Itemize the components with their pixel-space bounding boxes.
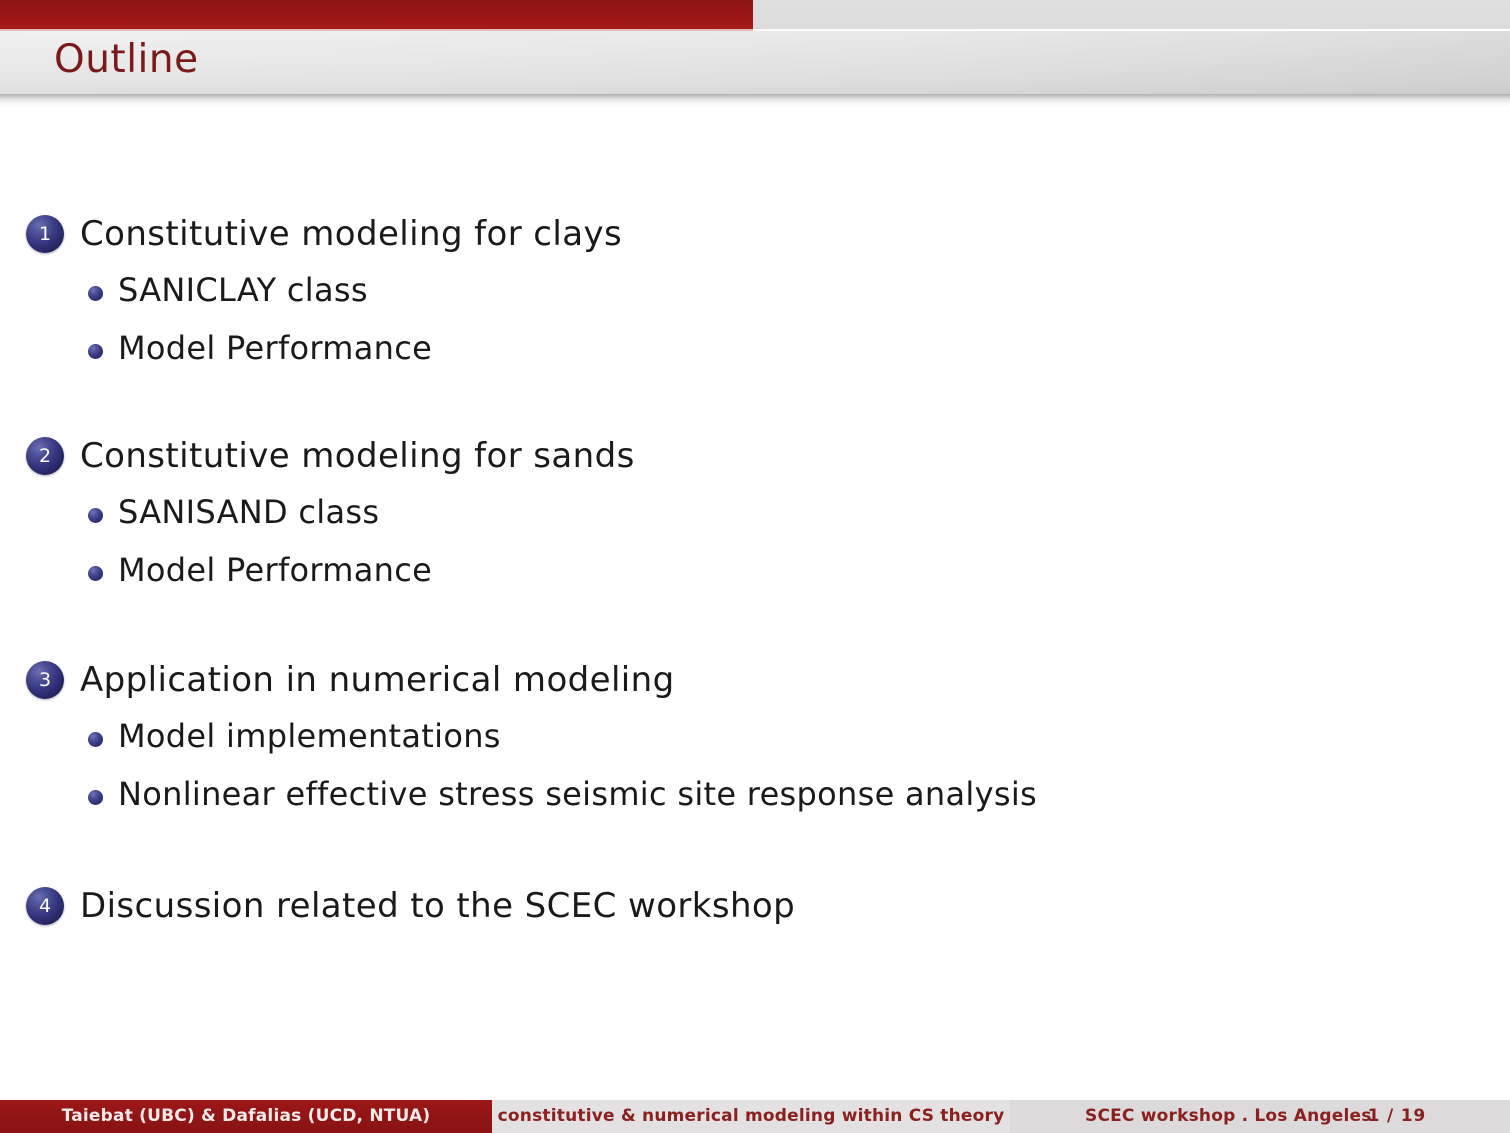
outline-subitem-label: SANICLAY class <box>118 270 368 310</box>
presentation-slide: Outline 1 Constitutive modeling for clay… <box>0 0 1510 1133</box>
outline-section-header[interactable]: 1 Constitutive modeling for clays <box>0 215 1510 273</box>
footer-subject-text: constitutive & numerical modeling within… <box>492 1100 1010 1133</box>
outline-list: 1 Constitutive modeling for clays SANICL… <box>0 105 1510 1100</box>
bullet-dot-icon <box>88 508 103 523</box>
footer-page-number: 1 / 19 <box>1368 1100 1426 1133</box>
outline-section-title: Constitutive modeling for sands <box>80 436 635 476</box>
outline-subitem-label: SANISAND class <box>118 492 379 532</box>
bullet-dot-icon <box>88 732 103 747</box>
outline-subitem[interactable]: Model implementations <box>0 719 1510 777</box>
bullet-dot-icon <box>88 790 103 805</box>
bullet-dot-icon <box>88 344 103 359</box>
footer-author-text: Taiebat (UBC) & Dafalias (UCD, NTUA) <box>0 1100 492 1133</box>
header-gray-bar <box>753 0 1510 29</box>
outline-section-title: Application in numerical modeling <box>80 660 675 700</box>
outline-subitem[interactable]: Nonlinear effective stress seismic site … <box>0 777 1510 835</box>
section-number-badge-icon: 2 <box>26 437 64 475</box>
header-red-bar <box>0 0 753 29</box>
outline-section: 4 Discussion related to the SCEC worksho… <box>0 887 1510 945</box>
outline-section-title: Constitutive modeling for clays <box>80 214 622 254</box>
footer-venue-text: SCEC workshop . Los Angeles <box>1085 1100 1372 1133</box>
outline-subitem-label: Model implementations <box>118 716 501 756</box>
slide-header: Outline <box>0 0 1510 105</box>
bullet-dot-icon <box>88 566 103 581</box>
outline-subitem-label: Nonlinear effective stress seismic site … <box>118 774 1037 814</box>
outline-subitem[interactable]: SANISAND class <box>0 495 1510 553</box>
outline-subitem-label: Model Performance <box>118 328 432 368</box>
outline-subitem-label: Model Performance <box>118 550 432 590</box>
header-title-band <box>0 31 1510 94</box>
outline-section-header[interactable]: 3 Application in numerical modeling <box>0 661 1510 719</box>
outline-subitem[interactable]: SANICLAY class <box>0 273 1510 331</box>
outline-section-header[interactable]: 4 Discussion related to the SCEC worksho… <box>0 887 1510 945</box>
section-number-badge-icon: 4 <box>26 887 64 925</box>
outline-section: 2 Constitutive modeling for sands SANISA… <box>0 437 1510 611</box>
section-number-badge-icon: 3 <box>26 661 64 699</box>
header-title-band-sheen <box>0 31 1510 94</box>
outline-section: 3 Application in numerical modeling Mode… <box>0 661 1510 835</box>
outline-section: 1 Constitutive modeling for clays SANICL… <box>0 215 1510 389</box>
section-number-badge-icon: 1 <box>26 215 64 253</box>
outline-subitem[interactable]: Model Performance <box>0 331 1510 389</box>
bullet-dot-icon <box>88 286 103 301</box>
outline-section-header[interactable]: 2 Constitutive modeling for sands <box>0 437 1510 495</box>
page-title: Outline <box>54 40 199 79</box>
outline-subitem[interactable]: Model Performance <box>0 553 1510 611</box>
slide-footer: Taiebat (UBC) & Dafalias (UCD, NTUA) con… <box>0 1100 1510 1133</box>
outline-section-title: Discussion related to the SCEC workshop <box>80 886 795 926</box>
